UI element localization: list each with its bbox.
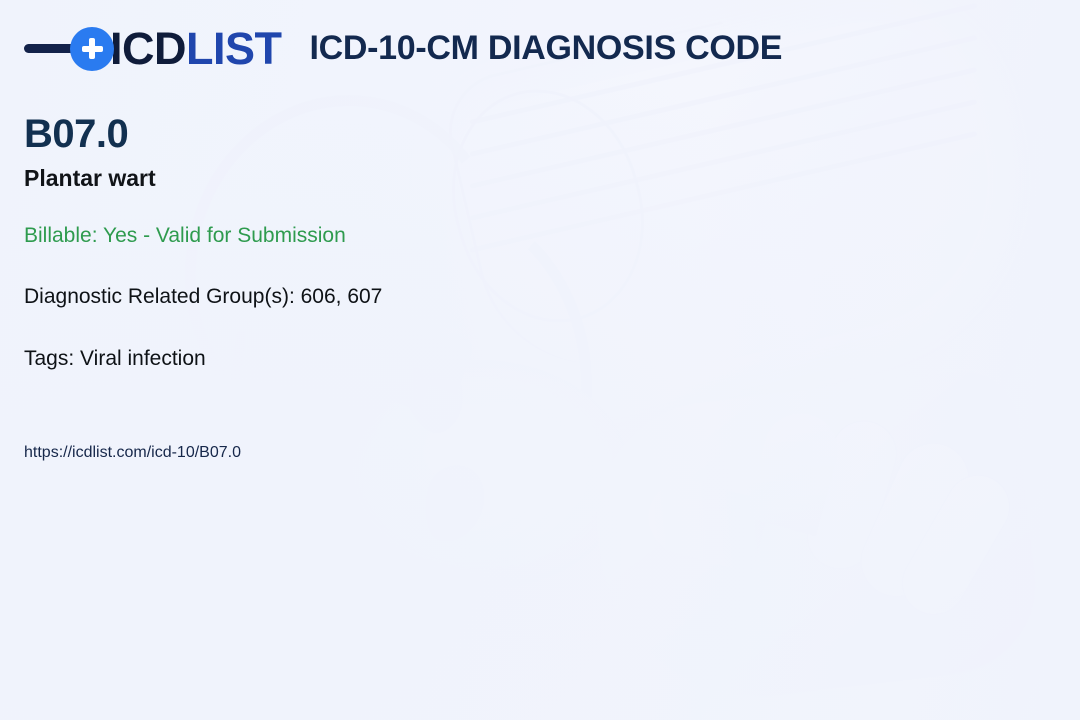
finger-shape (850, 433, 979, 608)
logo-wordmark: ICDLIST (110, 26, 282, 71)
stethoscope-stem (213, 330, 246, 520)
heart-shape (668, 428, 832, 592)
hand-shape (583, 365, 1046, 715)
page-header: ICDLIST ICD-10-CM DIAGNOSIS CODE (24, 26, 782, 71)
mask-pleat-line (469, 99, 977, 221)
plus-icon-vertical-bar (89, 38, 95, 59)
small-heart-shape (379, 334, 466, 421)
finger-shape (892, 465, 1021, 626)
icd-code-card: ICDLIST ICD-10-CM DIAGNOSIS CODE B07.0 P… (0, 0, 1080, 720)
stethoscope-tube-right (288, 190, 605, 571)
plus-icon (70, 27, 114, 71)
mask-pleat-line (469, 131, 977, 253)
source-url[interactable]: https://icdlist.com/icd-10/B07.0 (24, 444, 241, 462)
diagnosis-description: Plantar wart (24, 166, 156, 191)
stethoscope-disc (330, 360, 630, 590)
icdlist-logo[interactable]: ICDLIST (24, 26, 282, 71)
finger-shape (801, 414, 904, 576)
mask-ear-loop (426, 67, 670, 345)
stethoscope-tube-left (167, 79, 524, 463)
stethoscope-eartip (418, 460, 491, 548)
stethoscope-eartip (394, 348, 473, 440)
logo-word-icd: ICD (110, 23, 186, 74)
mask-edge (437, 21, 792, 388)
diagnostic-related-groups: Diagnostic Related Group(s): 606, 607 (24, 285, 382, 308)
page-title: ICD-10-CM DIAGNOSIS CODE (310, 29, 783, 68)
diagnosis-code: B07.0 (24, 114, 128, 154)
billable-status: Billable: Yes - Valid for Submission (24, 224, 346, 247)
logo-word-list: LIST (186, 23, 282, 74)
mask-pleat-line (469, 67, 977, 189)
tags-line: Tags: Viral infection (24, 347, 206, 370)
stethoscope-chestpiece (140, 492, 236, 588)
